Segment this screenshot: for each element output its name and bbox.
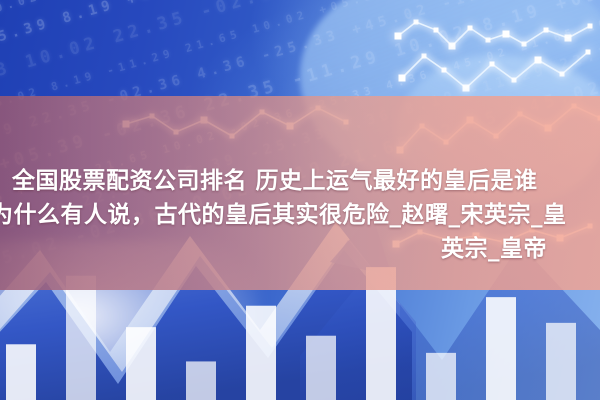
title-line-1: 全国股票配资公司排名 历史上运气最好的皇后是谁 xyxy=(12,164,600,198)
title-line-2: 为什么有人说，古代的皇后其实很危险_赵曙_宋英宗_皇 xyxy=(0,198,600,232)
banner-image: -25.33 -02.36 +45.02 4.36 10.02 22.35 -2… xyxy=(0,0,600,400)
page-title: 全国股票配资公司排名 历史上运气最好的皇后是谁 为什么有人说，古代的皇后其实很危… xyxy=(12,164,600,266)
title-line-3: 英宗_皇帝 xyxy=(441,232,600,266)
